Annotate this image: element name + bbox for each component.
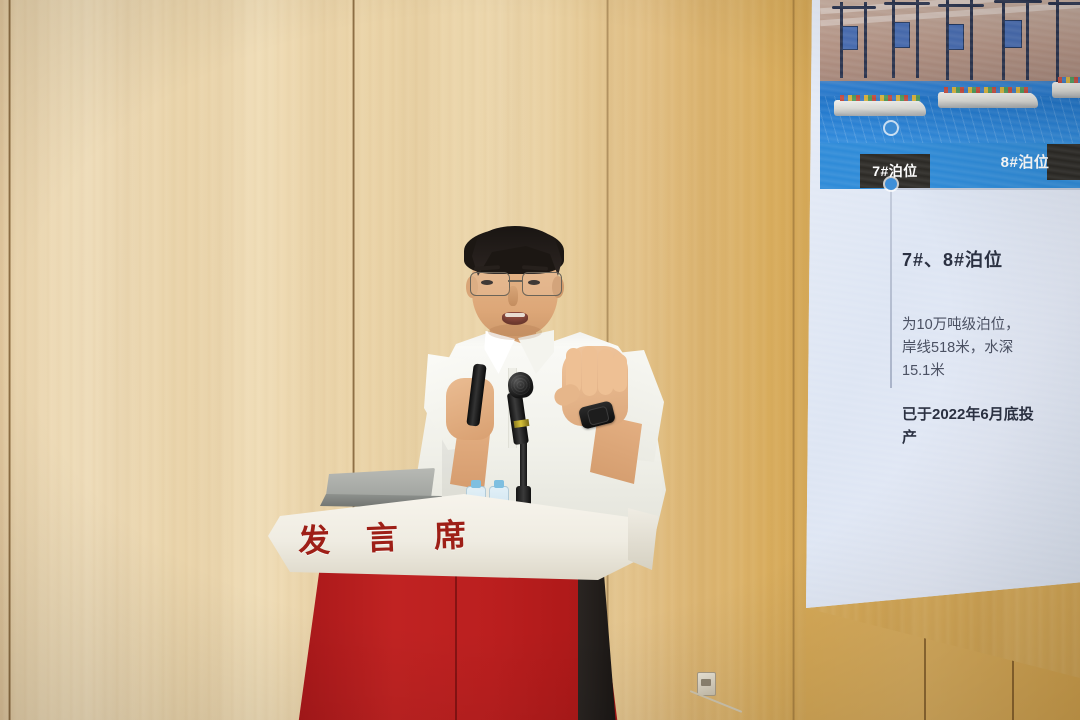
slide-heading: 7#、8#泊位 bbox=[902, 246, 1003, 272]
timeline-line bbox=[890, 188, 892, 388]
wall-panel-seam bbox=[792, 0, 795, 720]
timeline-dot bbox=[885, 122, 897, 134]
speaker bbox=[404, 228, 672, 528]
podium-label-char: 言 bbox=[365, 512, 401, 559]
podium-label: 发 言 席 bbox=[297, 505, 469, 567]
nose bbox=[508, 286, 518, 306]
power-cable bbox=[690, 690, 750, 720]
slide-bullet-2-line: 已于2022年6月底投 bbox=[902, 403, 1080, 426]
timeline-dot bbox=[885, 178, 897, 190]
projection-screen: 7#泊位 8#泊位 7#、8#泊位 为10万吨级泊位， 岸线518米，水深 15… bbox=[806, 0, 1080, 612]
slide-bullet-1-line: 15.1米 bbox=[902, 360, 1074, 383]
screen-sheen bbox=[806, 0, 1080, 612]
podium-base bbox=[298, 566, 618, 720]
slide-bullet-2-line: 产 bbox=[902, 426, 1080, 449]
chin-shadow bbox=[488, 324, 542, 340]
timeline-elbow bbox=[890, 188, 1080, 190]
podium-label-char: 发 bbox=[297, 515, 333, 562]
photo-scene: 7#泊位 8#泊位 7#、8#泊位 为10万吨级泊位， 岸线518米，水深 15… bbox=[0, 0, 1080, 720]
slide-bullet-1-line: 为10万吨级泊位， bbox=[902, 314, 1074, 337]
wall-panel-seam bbox=[8, 0, 11, 720]
slide-bullet-1-line: 岸线518米，水深 bbox=[902, 337, 1074, 360]
slide-bullet-2: 已于2022年6月底投 产 bbox=[902, 403, 1080, 449]
slide-bullet-1: 为10万吨级泊位， 岸线518米，水深 15.1米 bbox=[902, 314, 1074, 383]
podium-label-char: 席 bbox=[433, 510, 469, 557]
